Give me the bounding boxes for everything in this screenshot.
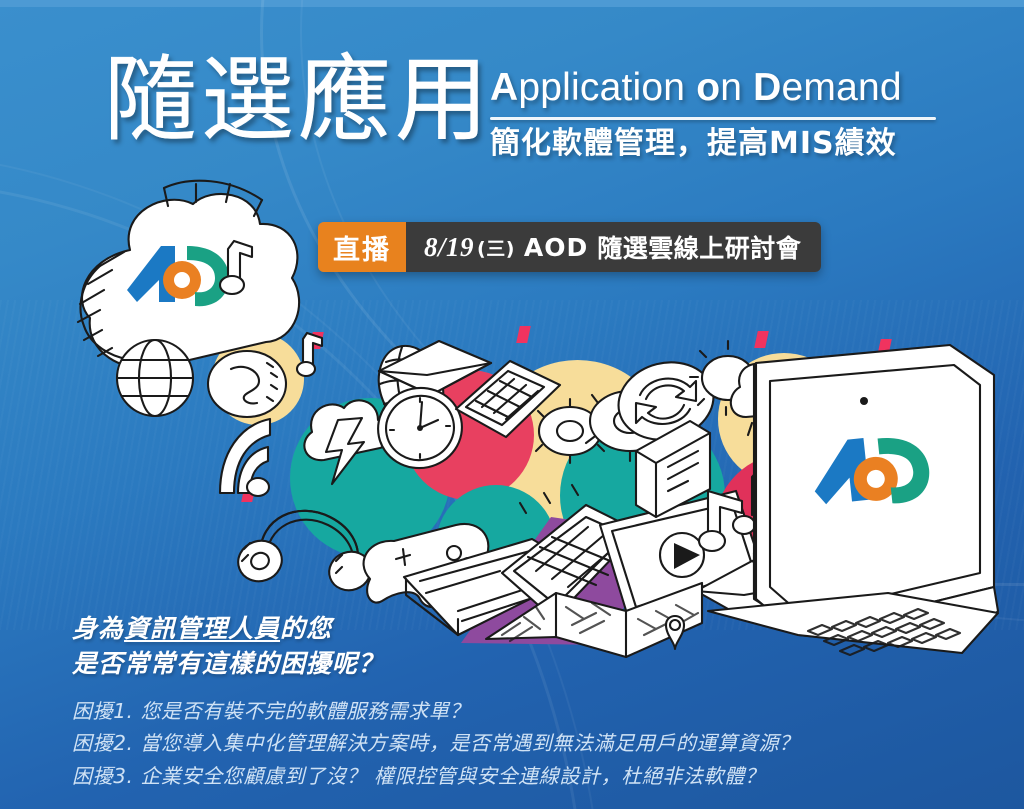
copy-head-pre: 身為	[72, 614, 124, 643]
title-divider	[490, 117, 936, 120]
en-title-emand: emand	[782, 66, 902, 109]
copy-head-underline: 資訊管理人員	[124, 614, 280, 643]
subtitle: 簡化軟體管理，提高MIS績效	[490, 127, 936, 160]
english-title: Application on Demand	[490, 68, 936, 107]
problem-list: 困擾1. 您是否有裝不完的軟體服務需求單？ 困擾2. 當您導入集中化管理解決方案…	[72, 695, 892, 792]
event-product: AOD	[524, 233, 588, 262]
list-item: 困擾1. 您是否有裝不完的軟體服務需求單？	[72, 695, 892, 727]
top-accent-strip	[0, 0, 1024, 7]
en-title-n: n	[720, 66, 753, 109]
live-badge: 直播	[318, 222, 406, 272]
en-title-a: A	[490, 66, 518, 109]
headline-block: 隨選應用 Application on Demand 簡化軟體管理，提高MIS績…	[104, 58, 934, 183]
copy-headline-line1: 身為資訊管理人員的您	[72, 612, 892, 647]
music-note-icon	[218, 237, 262, 299]
copy-head-post: 的您	[280, 614, 332, 643]
globe-wire-icon	[112, 335, 198, 421]
promo-banner: 隨選應用 Application on Demand 簡化軟體管理，提高MIS績…	[0, 0, 1024, 809]
wifi-signal-icon	[212, 415, 278, 499]
copy-block: 身為資訊管理人員的您 是否常常有這樣的困擾呢？ 困擾1. 您是否有裝不完的軟體服…	[72, 612, 892, 792]
event-date: 8/19	[424, 232, 474, 263]
list-item: 困擾2. 當您導入集中化管理解決方案時，是否常遇到無法滿足用戶的運算資源？	[72, 727, 892, 759]
page-title: 隨選應用	[104, 54, 492, 147]
copy-headline: 身為資訊管理人員的您 是否常常有這樣的困擾呢？	[72, 612, 892, 681]
diamond-accent	[516, 326, 531, 343]
music-note-icon-2	[295, 330, 329, 380]
en-title-o: o	[696, 66, 720, 109]
english-title-block: Application on Demand 簡化軟體管理，提高MIS績效	[490, 68, 936, 160]
live-event-text: 8/19 (三) AOD 隨選雲線上研討會	[406, 222, 821, 272]
aod-logo-laptop	[812, 433, 938, 529]
phone-handset-icon	[205, 345, 291, 423]
live-event-bar[interactable]: 直播 8/19 (三) AOD 隨選雲線上研討會	[318, 222, 821, 272]
list-item: 困擾3. 企業安全您顧慮到了沒？ 權限控管與安全連線設計，杜絕非法軟體？	[72, 760, 892, 792]
event-weekday: (三)	[477, 234, 515, 261]
event-name: 隨選雲線上研討會	[597, 229, 801, 265]
en-title-pplication: pplication	[518, 66, 696, 109]
copy-headline-line2: 是否常常有這樣的困擾呢？	[72, 647, 892, 682]
en-title-d: D	[753, 66, 781, 109]
